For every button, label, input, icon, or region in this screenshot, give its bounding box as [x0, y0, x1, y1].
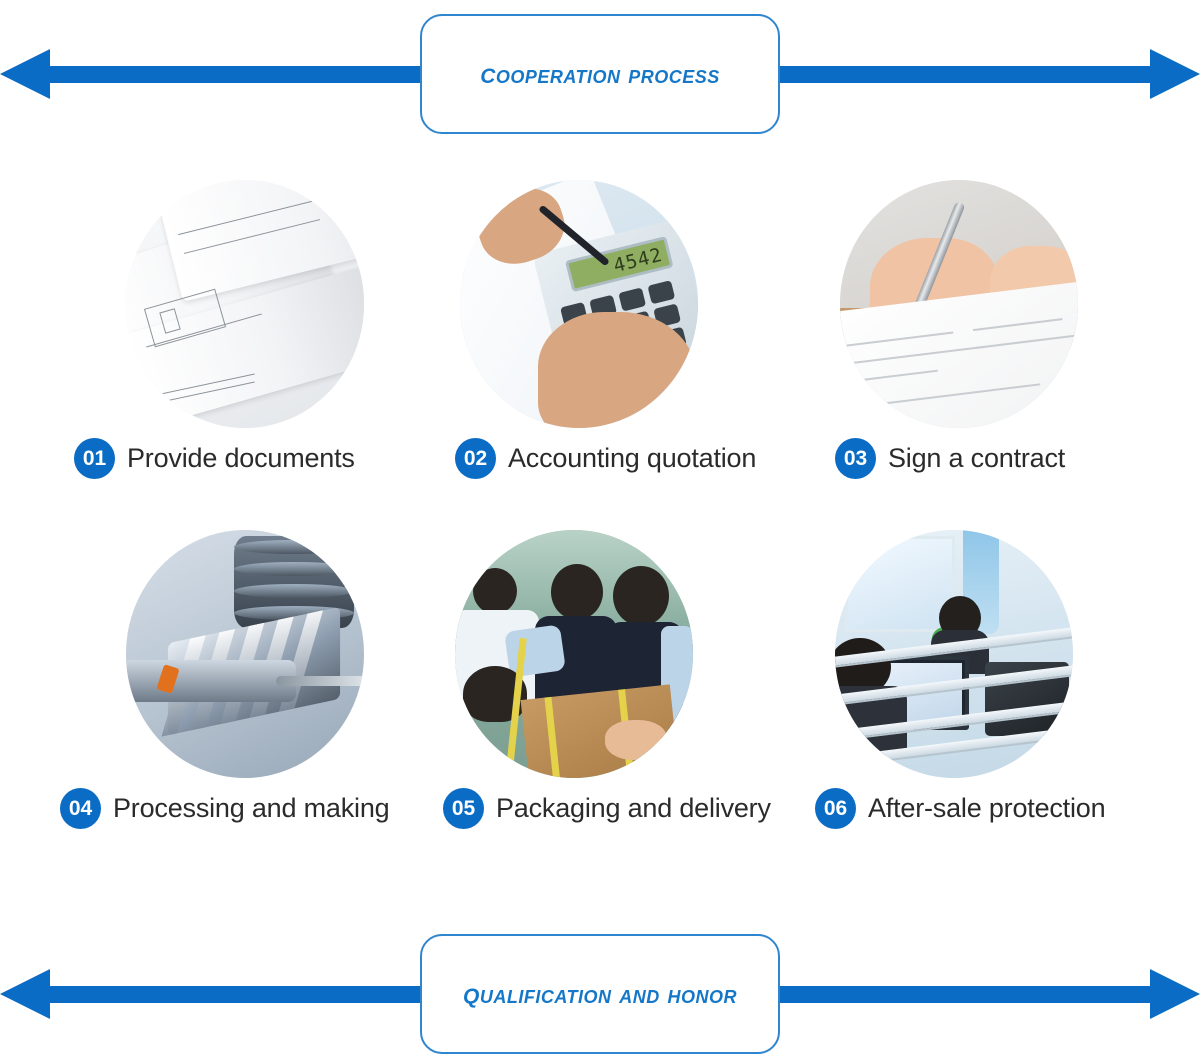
steps-row-1: 01 Provide documents 4542: [60, 180, 1150, 510]
step-05-image-wrap: [455, 530, 835, 778]
cooperation-process-infographic: Cooperation process: [0, 0, 1200, 1056]
step-label: Packaging and delivery: [496, 793, 771, 824]
step-03-caption: 03 Sign a contract: [835, 438, 1065, 479]
step-04-caption: 04 Processing and making: [60, 788, 389, 829]
step-02-caption: 02 Accounting quotation: [455, 438, 756, 479]
step-03-image-wrap: [835, 180, 1150, 428]
bottom-banner: Qualification and honor: [0, 924, 1200, 1056]
step-card-04[interactable]: 04 Processing and making: [60, 530, 455, 778]
step-label: Accounting quotation: [508, 443, 756, 474]
bottom-banner-box: Qualification and honor: [420, 934, 780, 1054]
steps-row-2: 04 Processing and making: [60, 530, 1150, 860]
step-01-image-wrap: [60, 180, 455, 428]
step-05-caption: 05 Packaging and delivery: [443, 788, 771, 829]
contract-photo-circle: [840, 180, 1078, 428]
packaging-illustration-icon: [455, 530, 693, 778]
blueprint-illustration-icon: [126, 180, 364, 428]
step-number-badge: 04: [60, 788, 101, 829]
left-arrow-icon: [0, 966, 490, 1022]
step-06-image-wrap: [835, 530, 1150, 778]
step-card-01[interactable]: 01 Provide documents: [60, 180, 455, 428]
cnc-photo-circle: [126, 530, 364, 778]
steps-grid: 01 Provide documents 4542: [60, 180, 1150, 860]
step-number-badge: 06: [815, 788, 856, 829]
step-card-03[interactable]: 03 Sign a contract: [835, 180, 1150, 428]
packaging-photo-circle: [455, 530, 693, 778]
step-label: Provide documents: [127, 443, 355, 474]
signing-illustration-icon: [840, 180, 1078, 428]
step-number-badge: 01: [74, 438, 115, 479]
step-card-02[interactable]: 4542: [455, 180, 835, 428]
calculator-illustration-icon: 4542: [460, 180, 698, 428]
step-card-05[interactable]: 05 Packaging and delivery: [455, 530, 835, 778]
left-arrow-icon: [0, 46, 490, 102]
blueprint-photo-circle: [126, 180, 364, 428]
right-arrow-icon: [710, 46, 1200, 102]
step-06-caption: 06 After-sale protection: [815, 788, 1105, 829]
bottom-banner-title: Qualification and honor: [463, 977, 737, 1011]
top-banner-title: Cooperation process: [480, 57, 720, 91]
right-arrow-icon: [710, 966, 1200, 1022]
step-number-badge: 05: [443, 788, 484, 829]
step-label: After-sale protection: [868, 793, 1105, 824]
step-04-image-wrap: [60, 530, 455, 778]
step-label: Sign a contract: [888, 443, 1065, 474]
step-02-image-wrap: 4542: [455, 180, 835, 428]
top-banner-box: Cooperation process: [420, 14, 780, 134]
step-number-badge: 03: [835, 438, 876, 479]
cnc-machine-illustration-icon: [126, 530, 364, 778]
calculator-photo-circle: 4542: [460, 180, 698, 428]
step-card-06[interactable]: 06 After-sale protection: [835, 530, 1150, 778]
office-illustration-icon: [835, 530, 1073, 778]
step-label: Processing and making: [113, 793, 389, 824]
step-number-badge: 02: [455, 438, 496, 479]
office-photo-circle: [835, 530, 1073, 778]
step-01-caption: 01 Provide documents: [74, 438, 355, 479]
top-banner: Cooperation process: [0, 4, 1200, 144]
